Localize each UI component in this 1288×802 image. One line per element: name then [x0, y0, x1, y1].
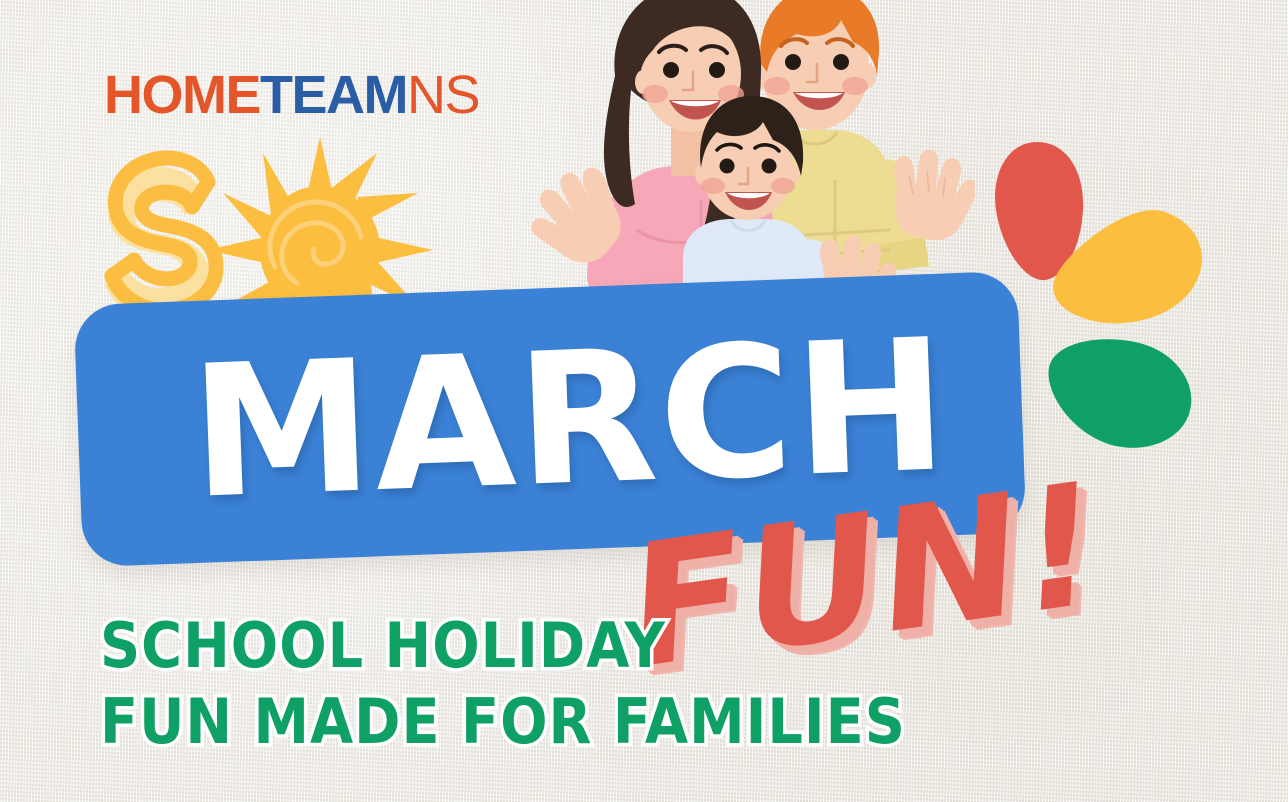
- march-fun-poster: HOMETEAMNS: [0, 0, 1288, 802]
- tagline-line-2: FUN MADE FOR FAMILIES: [100, 684, 906, 760]
- petal-green: [1049, 339, 1192, 448]
- logo-part-home: HOME: [104, 65, 260, 125]
- hometeamns-logo: HOMETEAMNS: [104, 68, 479, 122]
- logo-part-team: TEAM: [260, 65, 407, 125]
- logo-part-ns: NS: [407, 65, 479, 125]
- family-illustration: [505, 0, 975, 320]
- tagline: SCHOOL HOLIDAY FUN MADE FOR FAMILIES: [100, 608, 906, 760]
- tagline-line-1: SCHOOL HOLIDAY: [100, 608, 906, 684]
